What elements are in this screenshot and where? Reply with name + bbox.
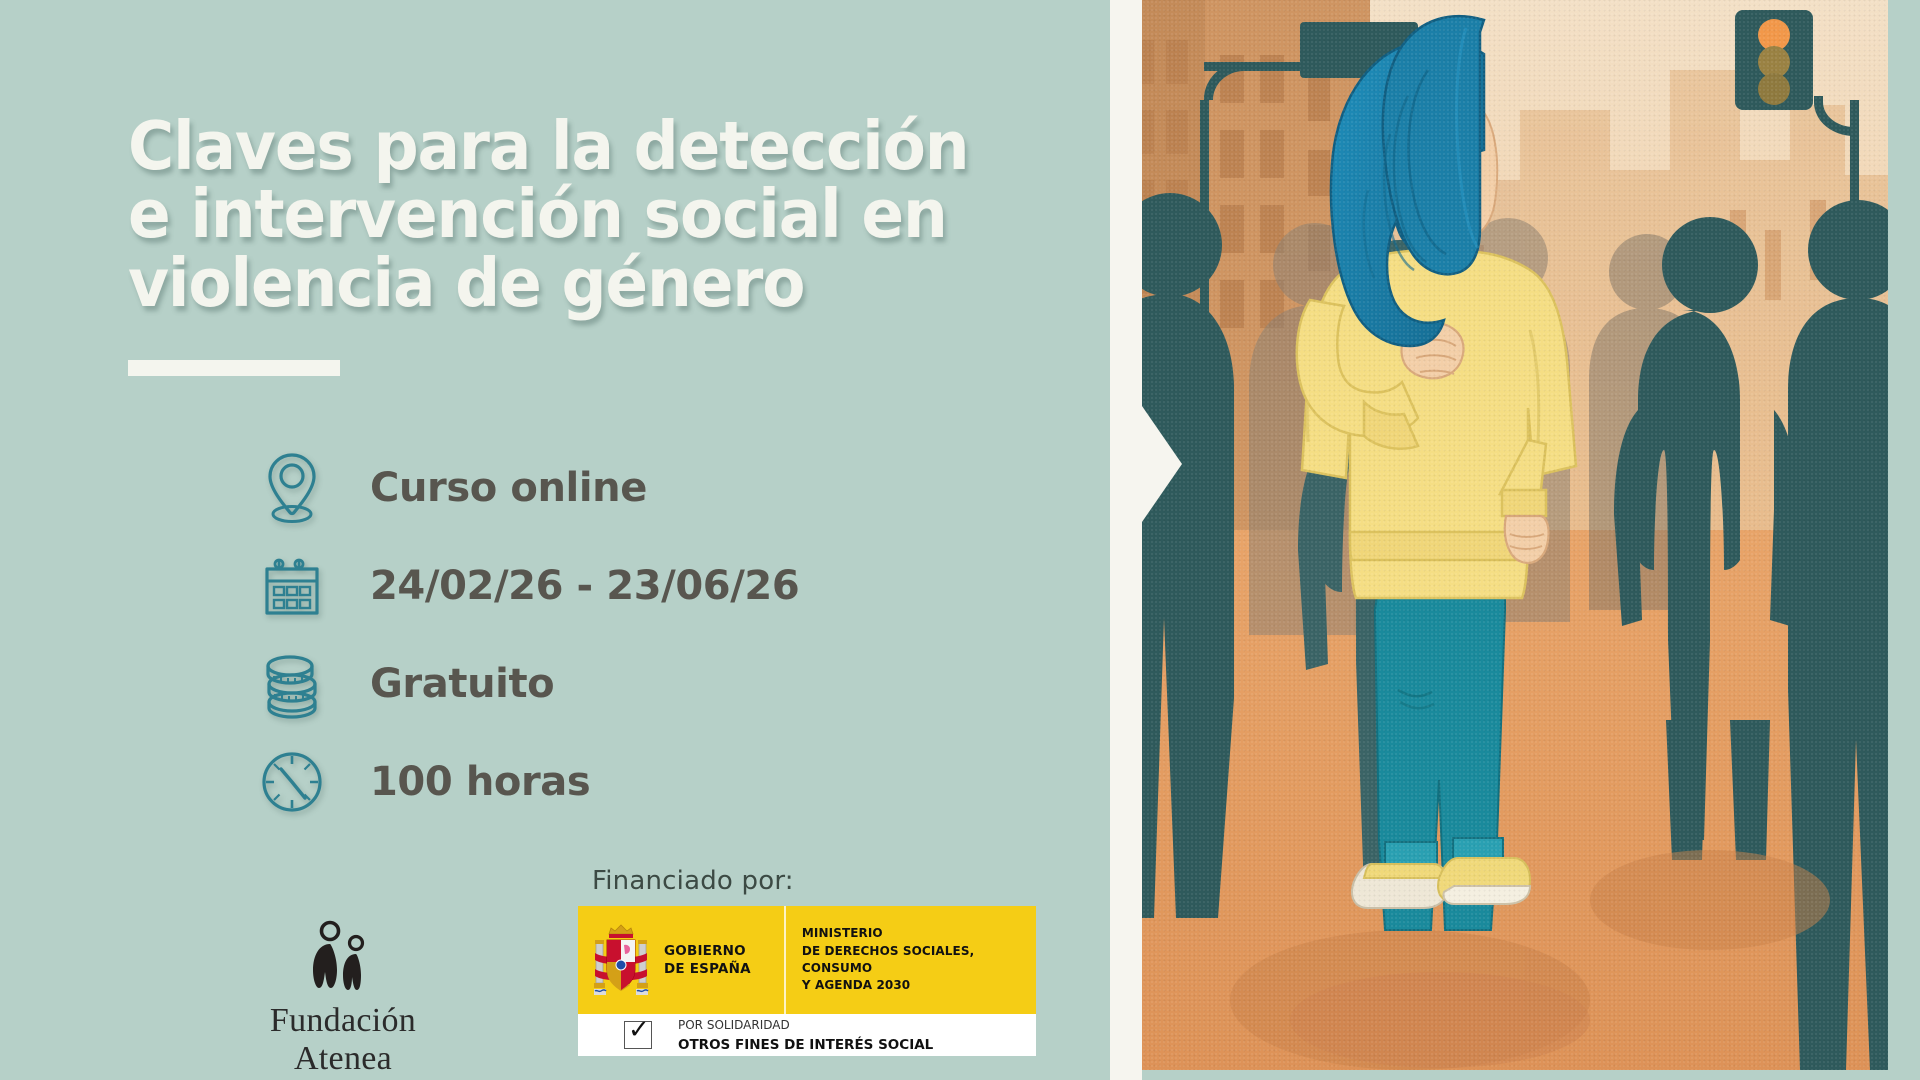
solidarity-line-2: OTROS FINES DE INTERÉS SOCIAL <box>678 1037 933 1053</box>
ministry-name-text: MINISTERIO DE DERECHOS SOCIALES, CONSUMO… <box>786 925 1036 995</box>
foundation-name: Fundación Atenea <box>218 1002 468 1078</box>
location-pin-icon <box>250 450 334 526</box>
info-row-duration: 100 horas <box>250 734 990 830</box>
poster-root: Claves para la detección e intervención … <box>0 0 1920 1080</box>
gov-name-line-1: GOBIERNO <box>664 943 746 959</box>
ministry-line-3: Y AGENDA 2030 <box>802 978 910 992</box>
gov-logo-divider <box>784 906 786 1014</box>
info-row-price: Gratuito <box>250 636 990 732</box>
info-text-dates: 24/02/26 - 23/06/26 <box>370 563 799 609</box>
calendar-icon <box>250 551 334 621</box>
info-row-modality: Curso online <box>250 440 990 536</box>
title-line-1: Claves para la detección <box>128 107 968 185</box>
page-title: Claves para la detección e intervención … <box>128 112 974 317</box>
gov-logo-yellow-band: GOBIERNO DE ESPAÑA MINISTERIO DE DERECHO… <box>578 906 1036 1014</box>
clock-icon <box>250 749 334 815</box>
coins-icon <box>250 648 334 720</box>
course-info-list: Curso online <box>250 440 990 832</box>
info-text-modality: Curso online <box>370 465 647 511</box>
ministry-line-2: DE DERECHOS SOCIALES, CONSUMO <box>802 944 974 975</box>
financed-by-label: Financiado por: <box>592 866 794 896</box>
panel-divider-strip <box>1110 0 1142 1080</box>
title-line-2: e intervención social en <box>128 175 947 253</box>
solidarity-band: ✓ POR SOLIDARIDAD OTROS FINES DE INTERÉS… <box>578 1014 1036 1056</box>
checkmark-glyph: ✓ <box>628 1017 650 1043</box>
foundation-logo: Fundación Atenea <box>218 920 468 1078</box>
solidarity-text: POR SOLIDARIDAD OTROS FINES DE INTERÉS S… <box>652 1015 933 1055</box>
title-underline-rule <box>128 360 340 376</box>
title-line-3: violencia de género <box>128 244 804 322</box>
solidarity-checkbox-icon: ✓ <box>624 1021 652 1049</box>
solidarity-line-1: POR SOLIDARIDAD <box>678 1018 790 1032</box>
ministry-line-1: MINISTERIO <box>802 926 883 940</box>
crowd-illustration <box>1110 0 1888 1080</box>
info-text-duration: 100 horas <box>370 759 590 805</box>
gov-name-text: GOBIERNO DE ESPAÑA <box>664 942 784 978</box>
two-figures-icon <box>218 920 468 992</box>
government-of-spain-logo: GOBIERNO DE ESPAÑA MINISTERIO DE DERECHO… <box>578 906 1036 1056</box>
left-info-panel: Claves para la detección e intervención … <box>0 0 1110 1080</box>
info-row-dates: 24/02/26 - 23/06/26 <box>250 538 990 634</box>
divider-arrow-notch-icon <box>1142 406 1182 522</box>
gov-name-line-2: DE ESPAÑA <box>664 961 751 977</box>
spain-coat-of-arms-icon <box>578 917 664 1003</box>
info-text-price: Gratuito <box>370 661 554 707</box>
